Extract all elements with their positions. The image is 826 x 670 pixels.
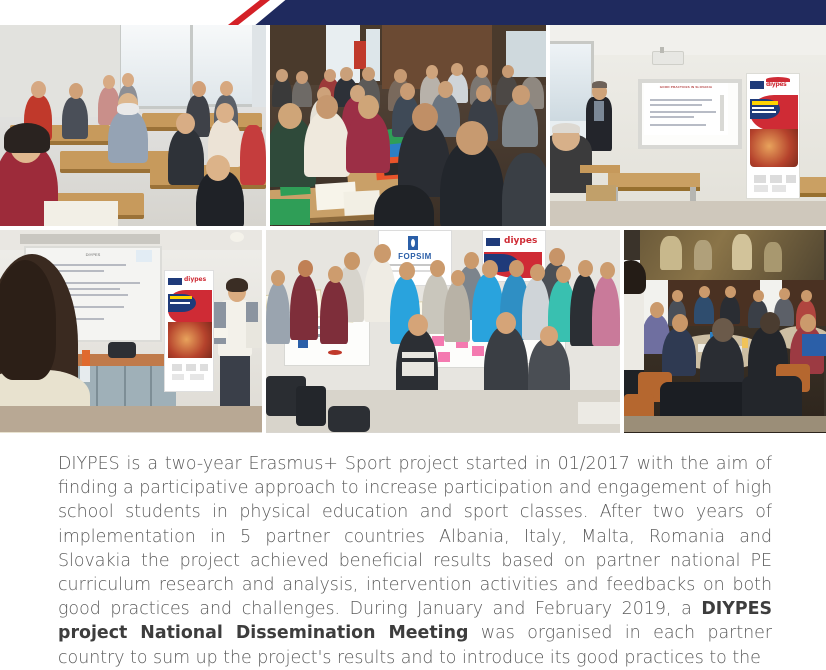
presenter-whiteboard-photo: GOOD PRACTICES IN SLOVAKIA <box>550 25 826 226</box>
slide-heading-text: DIYPES <box>78 252 108 257</box>
mosaic-top-row: GOOD PRACTICES IN SLOVAKIA <box>0 25 826 226</box>
rollup-logo-text: diypes <box>184 276 208 286</box>
classroom-audience-photo <box>0 25 266 226</box>
woman-presenting-photo: DIYPES <box>0 230 262 433</box>
newsletter-page: GOOD PRACTICES IN SLOVAKIA <box>0 0 826 620</box>
top-banner <box>0 0 826 25</box>
slide-title-text: GOOD PRACTICES IN SLOVAKIA <box>644 85 728 89</box>
workshop-tables-photo <box>270 25 546 226</box>
diypes-banner-text: diypes <box>504 236 540 248</box>
round-table-discussion-photo <box>624 230 826 433</box>
article-text-part-1: DIYPES is a two-year Erasmus+ Sport proj… <box>58 454 772 619</box>
article-paragraph: DIYPES is a two-year Erasmus+ Sport proj… <box>58 452 772 670</box>
rollup-logo-text: diypes <box>766 81 786 88</box>
group-certificates-photo: FOPSIM diypes <box>266 230 620 433</box>
photo-mosaic: GOOD PRACTICES IN SLOVAKIA <box>0 25 826 433</box>
banner-navy-shape <box>226 0 826 25</box>
mosaic-bottom-row: DIYPES <box>0 230 826 433</box>
